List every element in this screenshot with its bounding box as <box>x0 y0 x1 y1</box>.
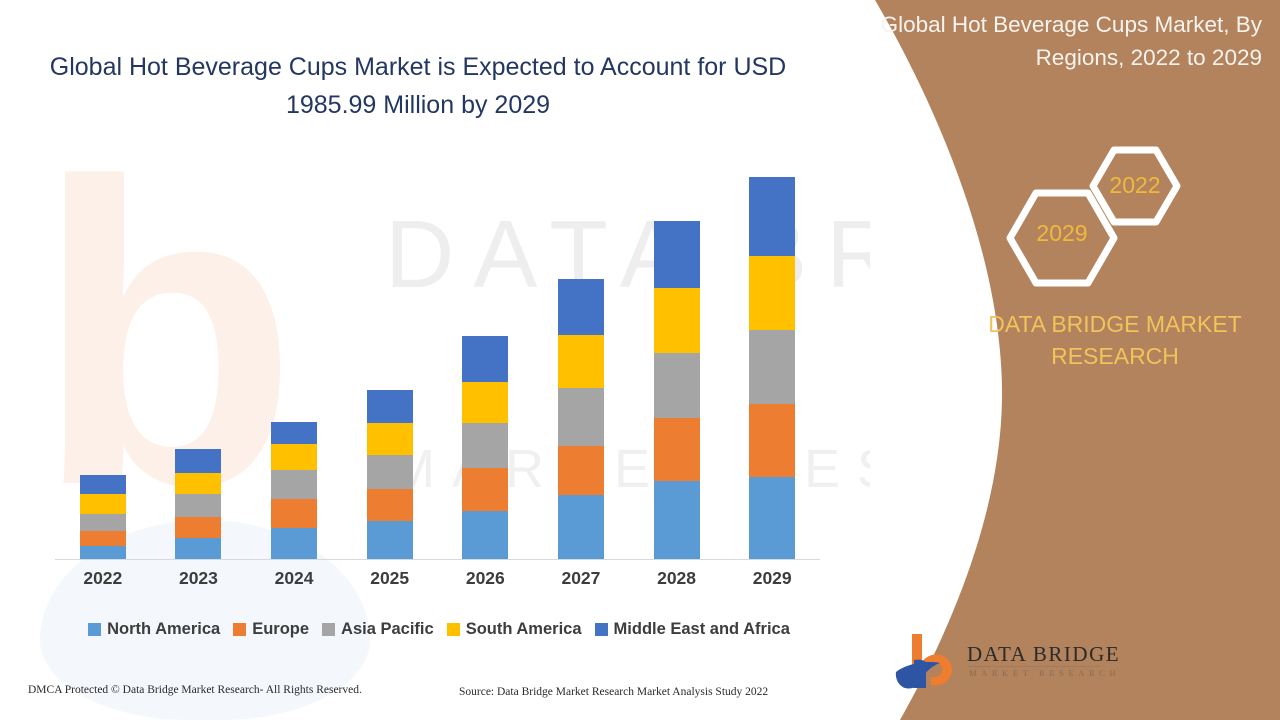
bar-segment-2025-4 <box>367 390 413 423</box>
bar-2026 <box>462 336 508 559</box>
x-label-2028: 2028 <box>642 568 712 589</box>
bar-segment-2022-3 <box>80 494 126 514</box>
x-label-2025: 2025 <box>355 568 425 589</box>
legend-item-3[interactable]: South America <box>447 620 582 639</box>
bar-segment-2028-3 <box>654 288 700 353</box>
legend-label-2: Asia Pacific <box>341 620 434 639</box>
bar-2028 <box>654 221 700 559</box>
x-label-2023: 2023 <box>163 568 233 589</box>
legend-item-2[interactable]: Asia Pacific <box>322 620 434 639</box>
bar-2029 <box>749 177 795 559</box>
legend-label-3: South America <box>466 620 582 639</box>
legend-swatch-icon-2 <box>322 623 335 636</box>
page-title: Global Hot Beverage Cups Market is Expec… <box>48 48 788 124</box>
bar-segment-2028-4 <box>654 221 700 288</box>
bar-segment-2022-2 <box>80 514 126 531</box>
bar-segment-2023-1 <box>175 517 221 538</box>
bar-segment-2026-3 <box>462 382 508 423</box>
x-axis-labels: 20222023202420252026202720282029 <box>55 568 820 596</box>
legend-label-1: Europe <box>252 620 309 639</box>
bar-2023 <box>175 449 221 559</box>
chart-legend: North AmericaEuropeAsia PacificSouth Ame… <box>55 616 823 642</box>
bar-segment-2024-4 <box>271 422 317 444</box>
bar-2025 <box>367 390 413 559</box>
bar-segment-2024-1 <box>271 499 317 527</box>
bar-segment-2026-0 <box>462 511 508 559</box>
bar-segment-2028-0 <box>654 481 700 559</box>
bar-2027 <box>558 279 604 559</box>
logo-title: DATA BRIDGE <box>967 642 1120 667</box>
hexagon-2029-label: 2029 <box>1012 220 1112 247</box>
legend-item-0[interactable]: North America <box>88 620 220 639</box>
bar-segment-2023-3 <box>175 473 221 494</box>
data-bridge-logo: DATA BRIDGE MARKET RESEARCH <box>892 630 1107 700</box>
legend-label-0: North America <box>107 620 220 639</box>
bar-segment-2024-0 <box>271 528 317 559</box>
bar-segment-2029-1 <box>749 404 795 477</box>
bar-segment-2029-0 <box>749 477 795 559</box>
legend-item-1[interactable]: Europe <box>233 620 309 639</box>
bar-2022 <box>80 475 126 559</box>
x-label-2024: 2024 <box>259 568 329 589</box>
legend-swatch-icon-4 <box>595 623 608 636</box>
legend-swatch-icon-0 <box>88 623 101 636</box>
panel-brand-text: DATA BRIDGE MARKET RESEARCH <box>965 308 1265 372</box>
logo-subtitle: MARKET RESEARCH <box>969 668 1120 678</box>
bar-segment-2024-2 <box>271 470 317 499</box>
legend-swatch-icon-1 <box>233 623 246 636</box>
logo-divider <box>968 666 1100 667</box>
x-label-2022: 2022 <box>68 568 138 589</box>
bar-segment-2028-1 <box>654 418 700 481</box>
bar-segment-2023-0 <box>175 538 221 559</box>
brand-panel: Global Hot Beverage Cups Market, By Regi… <box>850 0 1280 720</box>
footer-source: Source: Data Bridge Market Research Mark… <box>459 686 768 698</box>
bar-segment-2026-2 <box>462 423 508 468</box>
bar-segment-2029-2 <box>749 330 795 403</box>
bar-segment-2025-2 <box>367 455 413 489</box>
infographic-canvas: b DATA BRIDGE MARKET RESEARCH Global Hot… <box>0 0 1280 720</box>
bar-segment-2029-3 <box>749 256 795 330</box>
bar-segment-2025-0 <box>367 521 413 559</box>
bar-segment-2026-4 <box>462 336 508 382</box>
chart-plot-area <box>55 150 820 560</box>
bar-2024 <box>271 422 317 559</box>
bar-segment-2022-1 <box>80 531 126 547</box>
bar-segment-2027-2 <box>558 388 604 446</box>
bar-segment-2027-1 <box>558 446 604 495</box>
x-label-2027: 2027 <box>546 568 616 589</box>
x-axis-line <box>55 559 820 560</box>
bar-segment-2027-4 <box>558 279 604 335</box>
bar-segment-2023-4 <box>175 449 221 473</box>
x-label-2026: 2026 <box>450 568 520 589</box>
logo-mark <box>892 632 964 698</box>
footer-copyright: DMCA Protected © Data Bridge Market Rese… <box>28 684 362 696</box>
stacked-bar-chart <box>55 150 820 560</box>
bar-segment-2022-0 <box>80 546 126 559</box>
bar-segment-2024-3 <box>271 444 317 470</box>
x-label-2029: 2029 <box>737 568 807 589</box>
legend-item-4[interactable]: Middle East and Africa <box>595 620 790 639</box>
bar-segment-2023-2 <box>175 494 221 517</box>
bar-segment-2025-1 <box>367 489 413 522</box>
bar-segment-2025-3 <box>367 423 413 456</box>
hexagon-2022-label: 2022 <box>1095 172 1175 199</box>
legend-swatch-icon-3 <box>447 623 460 636</box>
bar-segment-2022-4 <box>80 475 126 494</box>
bar-segment-2028-2 <box>654 353 700 418</box>
legend-label-4: Middle East and Africa <box>614 620 790 639</box>
bar-segment-2029-4 <box>749 177 795 256</box>
bar-segment-2026-1 <box>462 468 508 511</box>
bar-segment-2027-0 <box>558 495 604 559</box>
bar-segment-2027-3 <box>558 335 604 388</box>
